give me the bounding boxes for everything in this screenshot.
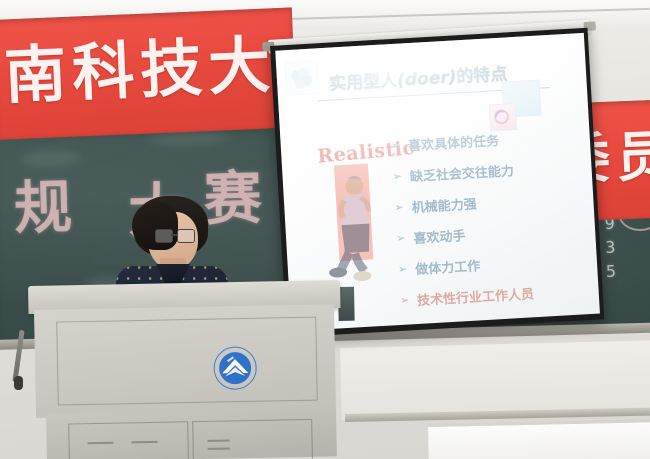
- bullet-text: 机械能力强: [411, 193, 477, 216]
- climbing-person-illustration: [320, 171, 386, 284]
- bullet-text: 喜欢具体的任务: [408, 130, 500, 154]
- bullet-arrow-icon: ➢: [396, 232, 406, 246]
- bullet-arrow-icon: ➢: [394, 201, 404, 215]
- slide-title-emphasis: (doer): [397, 67, 457, 90]
- chalk-number-5: 5: [606, 262, 617, 281]
- list-item: ➢ 缺乏社会交往能力: [392, 159, 527, 186]
- list-item: ➢ 技术性行业工作人员: [399, 283, 534, 310]
- podium-side-shadow: [338, 287, 355, 321]
- slide-title: 实用型人(doer)的特点: [328, 59, 507, 94]
- banner-left: 南科技大: [0, 7, 297, 139]
- bullet-text: 技术性行业工作人员: [417, 283, 535, 309]
- chalk-number-3: 3: [605, 238, 616, 257]
- realistic-graphic: Realistic: [317, 140, 396, 166]
- list-item: ➢ 机械能力强: [394, 190, 529, 217]
- bullet-arrow-icon: ➢: [401, 324, 411, 331]
- slide-title-suffix: 的特点: [456, 64, 508, 87]
- realistic-label: Realistic: [316, 139, 396, 168]
- bullet-text: 做体力工作: [415, 255, 481, 278]
- chalk-char-1: 规: [13, 160, 73, 245]
- cabinet-door-right[interactable]: [192, 419, 313, 459]
- bullet-arrow-icon: ➢: [391, 139, 401, 153]
- pinwheel-logo-icon: [284, 60, 320, 96]
- slide-bullet-list: ➢ 喜欢具体的任务 ➢ 缺乏社会交往能力 ➢ 机械能力强 ➢ 喜欢动手 ➢: [390, 128, 537, 331]
- university-emblem-icon: [213, 346, 258, 391]
- whiteboard-panel: [428, 419, 650, 459]
- photo-thumbnail-small: [489, 103, 518, 132]
- bullet-text: 缺乏社会交往能力: [409, 160, 514, 185]
- bullet-arrow-icon: ➢: [398, 262, 408, 276]
- eyeglasses-icon: [155, 229, 195, 241]
- classroom-photo: 规 大 赛 L R C E 9 3 5 霍 南科技大 委员: [0, 0, 650, 459]
- podium-lower-cabinet: [46, 408, 337, 459]
- bullet-arrow-icon: ➢: [392, 170, 402, 184]
- microphone-head: [14, 376, 23, 390]
- banner-left-text: 南科技大: [3, 34, 277, 107]
- podium-inset-panel: [56, 317, 318, 406]
- slide-title-prefix: 实用型人: [329, 71, 398, 95]
- list-item: ➢ 做体力工作: [398, 252, 533, 279]
- podium-front-panel: [34, 304, 336, 418]
- list-item: ➢ 喜欢动手: [396, 221, 531, 248]
- presenter-hair-front: [132, 202, 178, 250]
- cabinet-door-left[interactable]: [68, 421, 189, 459]
- bullet-arrow-icon: ➢: [399, 293, 409, 307]
- bullet-text: 喜欢动手: [413, 225, 466, 247]
- list-item: ➢ 喜欢具体的任务: [390, 128, 525, 155]
